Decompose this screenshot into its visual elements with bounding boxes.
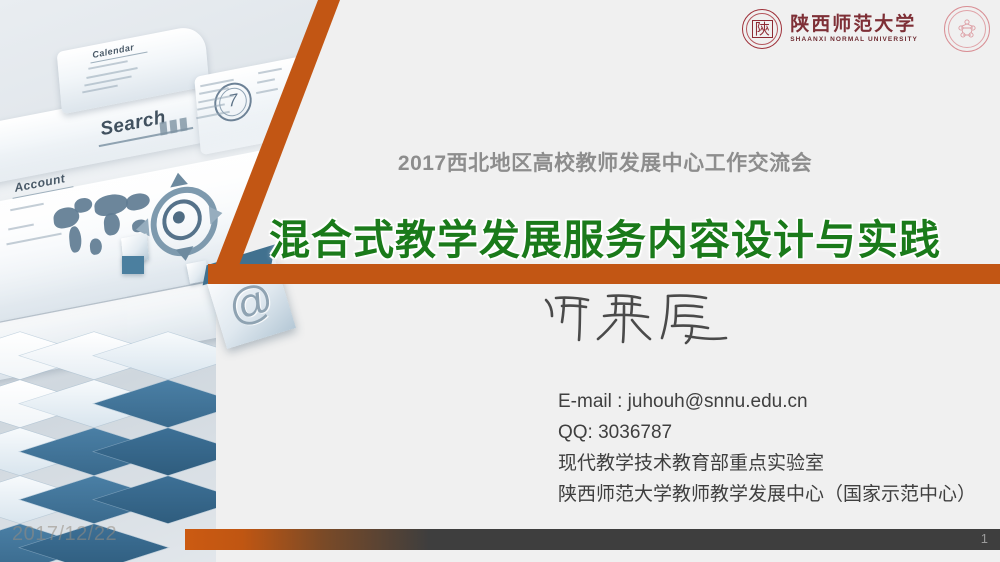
artwork-tick [169,119,177,133]
presentation-slide: Calendar Search 7 Account [0,0,1000,562]
slide-page-number: 1 [981,531,988,546]
slide-date: 2017/12/22 [12,523,117,546]
university-seal-icon: 陝 [742,9,782,49]
contact-center: 陕西师范大学教师教学发展中心（国家示范中心） [558,479,976,510]
header-logos: 陝 陕西师范大学 SHAANXI NORMAL UNIVERSITY [742,6,990,52]
footer-bar [185,529,1000,550]
university-name-cn: 陕西师范大学 [790,15,918,34]
university-name-en: SHAANXI NORMAL UNIVERSITY [790,37,918,44]
presenter-signature [536,286,766,348]
event-subtitle: 2017西北地区高校教师发展中心工作交流会 [0,147,1000,177]
presentation-title: 混合式教学发展服务内容设计与实践 [0,206,1000,266]
contact-email: E-mail : juhouh@snnu.edu.cn [558,386,976,417]
artwork-tick [179,117,187,131]
contact-qq: QQ: 3036787 [558,417,976,448]
contact-lab: 现代教学技术教育部重点实验室 [558,448,976,479]
artwork-email-cube: @ [206,259,296,349]
contact-block: E-mail : juhouh@snnu.edu.cn QQ: 3036787 … [558,386,976,510]
lab-seal-icon [944,6,990,52]
university-logo: 陝 陕西师范大学 SHAANXI NORMAL UNIVERSITY [742,9,918,49]
decorative-artwork: Calendar Search 7 Account [0,0,340,562]
artwork-tick [159,121,167,135]
